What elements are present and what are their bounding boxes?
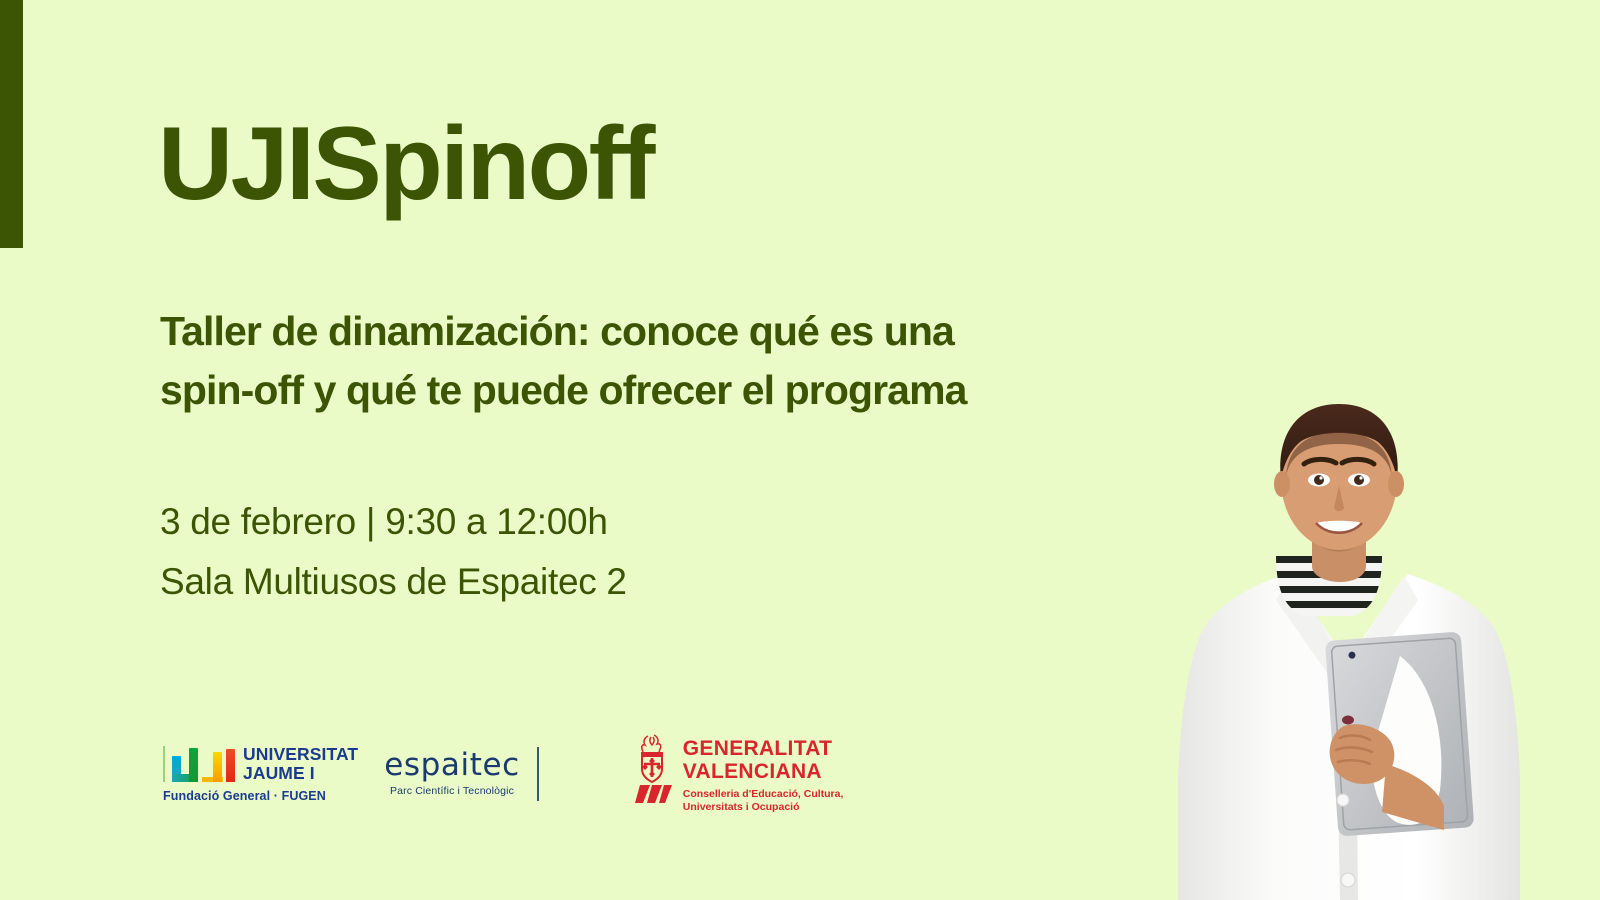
subtitle-line-2: spin-off y qué te puede ofrecer el progr… <box>160 361 1090 420</box>
generalitat-text-block: GENERALITAT VALENCIANA Conselleria d'Edu… <box>683 733 844 815</box>
uji-logo: UNIVERSITAT JAUME I Fundació General · F… <box>163 745 358 802</box>
uji-logo-top: UNIVERSITAT JAUME I <box>163 745 358 781</box>
uji-wordmark: UNIVERSITAT JAUME I <box>243 745 358 781</box>
generalitat-department-line-2: Universitats i Ocupació <box>683 801 844 814</box>
uji-name-line-2: JAUME I <box>243 764 358 782</box>
uji-foundation-label: Fundació General · FUGEN <box>163 789 326 803</box>
espaitec-tagline: Parc Científic i Tecnològic <box>390 785 514 797</box>
lab-coat-woman-illustration <box>1100 360 1600 900</box>
generalitat-valenciana-logo: GENERALITAT VALENCIANA Conselleria d'Edu… <box>634 733 844 815</box>
poster-canvas: UJISpinoff Taller de dinamización: conoc… <box>0 0 1600 900</box>
sponsor-logo-strip: UNIVERSITAT JAUME I Fundació General · F… <box>163 728 843 820</box>
left-accent-bar <box>0 0 23 248</box>
uji-mark-icon <box>172 746 234 782</box>
uji-name-line-1: UNIVERSITAT <box>243 745 358 763</box>
event-details: 3 de febrero | 9:30 a 12:00h Sala Multiu… <box>160 492 860 613</box>
page-title: UJISpinoff <box>158 112 653 216</box>
generalitat-coat-of-arms-icon <box>634 733 674 805</box>
generalitat-wordmark: GENERALITAT VALENCIANA <box>683 738 844 783</box>
event-date-time: 3 de febrero | 9:30 a 12:00h <box>160 492 860 552</box>
poster-subtitle: Taller de dinamización: conoce qué es un… <box>160 302 1090 421</box>
subtitle-line-1: Taller de dinamización: conoce qué es un… <box>160 302 1090 361</box>
generalitat-department: Conselleria d'Educació, Cultura, Univers… <box>683 788 844 815</box>
generalitat-name-line-1: GENERALITAT <box>683 738 844 760</box>
espaitec-logo: espaitec Parc Científic i Tecnològic <box>384 747 520 801</box>
logo-divider <box>537 747 539 801</box>
uji-rule-divider <box>163 746 165 782</box>
event-venue: Sala Multiusos de Espaitec 2 <box>160 552 860 612</box>
espaitec-wordmark: espaitec <box>384 747 520 783</box>
generalitat-department-line-1: Conselleria d'Educació, Cultura, <box>683 788 844 801</box>
presenter-photo <box>1100 360 1600 900</box>
generalitat-name-line-2: VALENCIANA <box>683 761 844 783</box>
